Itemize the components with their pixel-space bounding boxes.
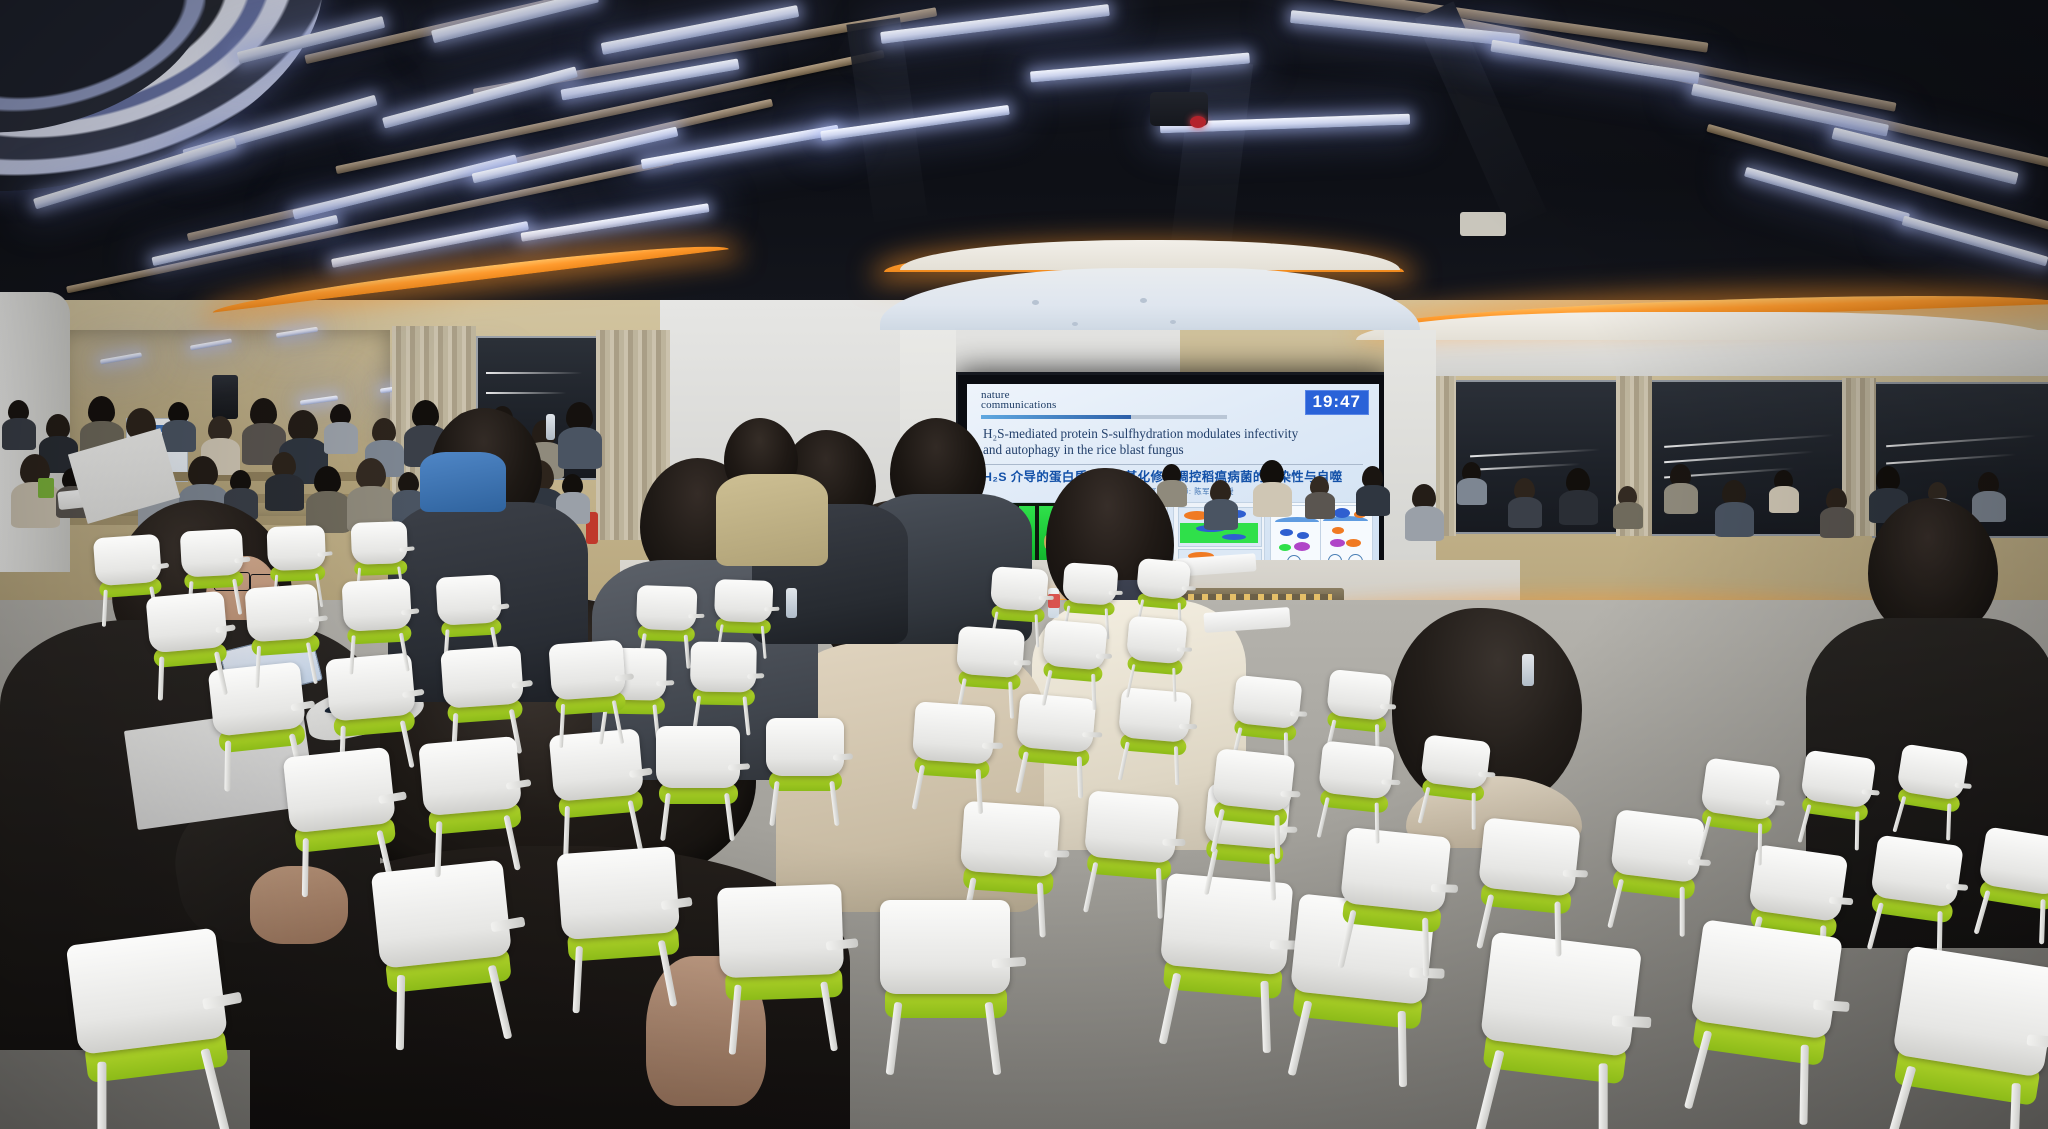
chair-leg [1855, 811, 1860, 850]
chair-backrest [990, 566, 1049, 612]
chair-backrest [1136, 558, 1191, 600]
chair [1038, 619, 1107, 711]
chair-leg [1758, 824, 1763, 866]
tan-jacket [716, 474, 828, 566]
chair-backrest [714, 579, 773, 623]
blue-jacket-attendee [420, 452, 506, 512]
chair-backrest [146, 591, 229, 654]
chair-leg [395, 975, 404, 1050]
chair-backrest [1084, 790, 1179, 864]
chair-backrest [548, 640, 626, 701]
chair-backrest [436, 574, 502, 625]
chair-backrest [956, 626, 1025, 678]
chair-armrest [1096, 653, 1112, 658]
chair-leg [1211, 809, 1225, 853]
chair [689, 641, 757, 737]
chair-leg [302, 838, 309, 897]
ceiling-led-strip [601, 5, 800, 55]
chair-backrest [556, 846, 680, 940]
chair-leg [1041, 669, 1052, 705]
ceiling-led-strip [431, 0, 599, 43]
chair [1677, 919, 1843, 1129]
chair-leg [1015, 752, 1028, 794]
chair-armrest [747, 673, 764, 679]
chair-leg [1418, 787, 1431, 824]
chair-leg [225, 741, 231, 793]
chair-backrest [1870, 835, 1964, 908]
chair-backrest [912, 701, 996, 764]
chair-armrest [1562, 870, 1587, 878]
chair-backrest [267, 525, 327, 571]
ceiling-led-strip [820, 105, 1010, 141]
ceiling-led-strip [1831, 127, 2018, 185]
chair-armrest [1478, 771, 1495, 777]
ceiling-led-strip [151, 215, 338, 267]
lecture-hall-photo: nature communications 19:47 H₂S-mediated… [0, 0, 2048, 1129]
chair-backrest [880, 900, 1010, 994]
chair [1877, 945, 2048, 1129]
chair-backrest [180, 528, 244, 577]
chair-backrest [717, 884, 844, 978]
chair [418, 736, 528, 881]
chair [1333, 827, 1452, 981]
ceiling-led-strip [560, 58, 739, 100]
chair-backrest [1232, 675, 1303, 730]
ceiling-led-strip [237, 16, 385, 64]
chair-backrest [1062, 562, 1119, 606]
chair-armrest [1039, 596, 1054, 600]
chair-leg [1799, 1045, 1809, 1125]
window-reflection [486, 372, 582, 374]
chair-leg [1274, 815, 1279, 859]
chair [908, 701, 995, 816]
chair [1415, 734, 1492, 833]
chair-armrest [982, 743, 1003, 749]
chair-armrest [1044, 851, 1069, 858]
chair-leg [1599, 1063, 1608, 1129]
chair-armrest [1109, 591, 1123, 595]
ceiling-led-strip [331, 221, 529, 268]
ceiling-led-strip [33, 138, 237, 210]
chair-leg [1083, 862, 1099, 913]
chair [66, 928, 240, 1129]
chair-armrest [1431, 884, 1458, 893]
chair [1313, 741, 1395, 847]
chair-leg [1554, 901, 1561, 956]
chair-armrest [1014, 660, 1031, 665]
chair-leg [2039, 899, 2045, 944]
chair-leg [158, 657, 164, 701]
ceiling-led-strip [1290, 10, 1520, 47]
ceiling-led-strip [880, 4, 1110, 44]
chair-backrest [283, 747, 396, 834]
chair [766, 718, 844, 828]
chair-armrest [1290, 711, 1307, 716]
water-bottle [1522, 654, 1534, 686]
chair-armrest [1163, 839, 1187, 846]
chair [1794, 750, 1877, 854]
chair-leg [912, 764, 925, 809]
chair [548, 640, 629, 751]
soffit-downlight [1032, 300, 1039, 305]
chair-leg [102, 589, 108, 627]
soffit-downlight [1140, 298, 1147, 303]
chair [717, 884, 847, 1059]
ceiling-led-strip [292, 154, 518, 219]
chair-armrest [764, 607, 779, 612]
chair [880, 900, 1010, 1079]
chair-leg [1680, 887, 1685, 937]
chair [1889, 743, 1968, 843]
chair-backrest [1212, 748, 1295, 812]
chair-armrest [1612, 1015, 1652, 1028]
chair-leg [573, 946, 584, 1013]
chair-backrest [766, 718, 844, 776]
chair-backrest [351, 521, 408, 565]
chair [371, 860, 521, 1055]
chair-backrest [656, 726, 740, 788]
chair-backrest [245, 584, 321, 643]
chair-armrest [1179, 724, 1197, 729]
chair-backrest [93, 534, 162, 586]
soffit-downlight [1072, 322, 1078, 326]
chair-leg [349, 635, 356, 674]
chair-leg [559, 704, 566, 748]
chair [1207, 748, 1296, 862]
chair-armrest [1182, 586, 1196, 590]
ceiling-led-strip [382, 66, 578, 128]
chair-backrest [636, 585, 697, 631]
chair-armrest [1954, 782, 1972, 788]
chair [556, 846, 685, 1017]
ceiling-led-strip [1490, 40, 1699, 85]
chair-armrest [1280, 790, 1300, 796]
chair-backrest [1042, 619, 1108, 670]
chair [1603, 809, 1705, 940]
chair-backrest [66, 928, 228, 1055]
chair [245, 584, 324, 691]
chair-backrest [1326, 669, 1392, 721]
chair-backrest [1690, 919, 1843, 1039]
chair [146, 591, 233, 704]
spotlight-icon [1190, 116, 1206, 128]
chair-backrest [690, 641, 757, 692]
chair [1122, 616, 1187, 704]
ceiling-led-strip [520, 203, 709, 242]
chair-leg [1117, 742, 1129, 781]
chair-leg [97, 1061, 106, 1129]
water-bottle [546, 414, 555, 440]
chair [1862, 835, 1964, 964]
chair-backrest [1610, 809, 1705, 883]
soffit-downlight [1170, 320, 1176, 324]
chair-leg [1947, 803, 1952, 841]
chair [342, 578, 415, 676]
chair [1468, 932, 1642, 1129]
chair [1693, 757, 1781, 869]
chair-backrest [1318, 741, 1395, 800]
chair [656, 726, 740, 844]
chair-leg [1472, 793, 1476, 830]
chair-backrest [1420, 734, 1491, 790]
chair-armrest [1380, 703, 1396, 708]
chair-backrest [418, 736, 522, 816]
chair-backrest [1478, 817, 1581, 897]
chair-backrest [1700, 757, 1781, 821]
chair-backrest [440, 645, 524, 708]
ceiling-led-strip [472, 127, 679, 184]
green-cup [38, 478, 54, 498]
chair-backrest [342, 578, 413, 631]
chair-backrest [1800, 750, 1876, 809]
water-bottle [786, 588, 797, 618]
chair-leg [563, 806, 570, 858]
chair-backrest [1126, 616, 1188, 665]
chair-leg [434, 821, 442, 877]
ceiling-led-strip [1030, 52, 1250, 82]
chair [1471, 817, 1580, 959]
ceiling-vent [1460, 212, 1506, 236]
